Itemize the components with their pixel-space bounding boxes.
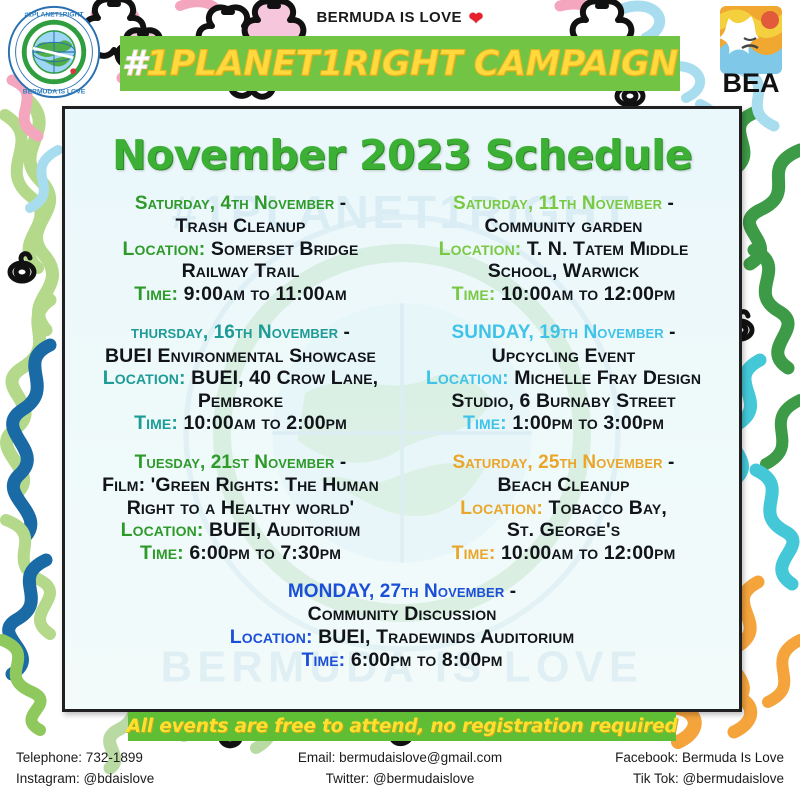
event-date: thursday, 16th November - (83, 322, 398, 344)
location-value: Michelle Fray Design (514, 367, 701, 389)
free-events-text: All events are free to attend, no regist… (127, 716, 678, 737)
event-title: BUEI Environmental Showcase (83, 345, 398, 368)
event-card: MONDAY, 27th November -Community Discuss… (79, 581, 725, 671)
event-date-dash: - (663, 452, 675, 473)
event-date-text: Saturday, 4th November (135, 193, 334, 214)
event-details: Saturday, 4th November -Trash CleanupLoc… (83, 193, 398, 305)
campaign-banner: #1PLANET1RIGHT CAMPAIGN (120, 36, 680, 91)
event-date-dash: - (335, 452, 347, 473)
event-location-cont: Studio, 6 Burnaby Street (406, 390, 721, 413)
tiktok-text[interactable]: Tik Tok: @bermudaislove (528, 769, 784, 790)
instagram-text: Instagram: @bdaislove (16, 769, 272, 790)
time-value: 10:00am to 12:00pm (501, 542, 675, 564)
event-card: Saturday, 4th November -Trash CleanupLoc… (79, 193, 402, 305)
email-text[interactable]: Email: bermudaislove@gmail.com (272, 748, 528, 769)
footer-col-left: Telephone: 732-1899 Instagram: @bdaislov… (0, 748, 272, 800)
event-location: Location: BUEI, Tradewinds Auditorium (83, 626, 721, 649)
campaign-title: #1PLANET1RIGHT CAMPAIGN (122, 44, 678, 84)
event-title: Community Discussion (83, 603, 721, 626)
location-label: Location: (103, 367, 191, 389)
event-date-text: SUNDAY, 19th November (451, 322, 663, 343)
location-value: BUEI, Tradewinds Auditorium (318, 626, 574, 648)
schedule-panel: #1PLANET1RIGHT BERMUDA IS LOVE November … (62, 106, 742, 712)
footer-col-right: Facebook: Bermuda Is Love Tik Tok: @berm… (528, 748, 800, 800)
event-date-dash: - (504, 581, 516, 602)
event-date-dash: - (334, 193, 346, 214)
time-label: Time: (134, 283, 178, 305)
time-label: Time: (452, 542, 496, 564)
event-date-dash: - (662, 193, 674, 214)
event-card: thursday, 16th November -BUEI Environmen… (79, 322, 402, 434)
event-details: MONDAY, 27th November -Community Discuss… (83, 581, 721, 671)
event-location: Location: Somerset Bridge (83, 238, 398, 261)
time-value: 6:00pm to 8:00pm (351, 649, 503, 671)
event-details: Saturday, 25th November -Beach CleanupLo… (406, 452, 721, 564)
free-events-banner: All events are free to attend, no regist… (128, 712, 676, 741)
event-time: Time: 10:00am to 12:00pm (406, 283, 721, 306)
event-time: Time: 6:00pm to 7:30pm (83, 542, 398, 565)
heart-icon: ❤ (469, 10, 484, 27)
location-value: T. N. Tatem Middle (527, 238, 689, 260)
time-label: Time: (301, 649, 345, 671)
event-location: Location: Michelle Fray Design (406, 367, 721, 390)
event-card: SUNDAY, 19th November -Upcycling EventLo… (402, 322, 725, 434)
location-label: Location: (230, 626, 318, 648)
hashtag-symbol: # (122, 44, 146, 84)
event-date-dash: - (664, 322, 676, 343)
event-date-text: MONDAY, 27th November (288, 581, 504, 602)
location-value: BUEI, Auditorium (209, 519, 360, 541)
event-date: SUNDAY, 19th November - (406, 322, 721, 344)
event-location: Location: Tobacco Bay, (406, 497, 721, 520)
bermuda-is-love-tagline: BERMUDA IS LOVE ❤ (0, 8, 800, 27)
event-details: SUNDAY, 19th November -Upcycling EventLo… (406, 322, 721, 434)
bea-logo: BEA (708, 2, 794, 102)
event-location-cont: Railway Trail (83, 260, 398, 283)
location-label: Location: (439, 238, 527, 260)
location-label: Location: (123, 238, 211, 260)
time-label: Time: (140, 542, 184, 564)
contact-footer: Telephone: 732-1899 Instagram: @bdaislov… (0, 748, 800, 800)
event-details: thursday, 16th November -BUEI Environmen… (83, 322, 398, 434)
events-grid: Saturday, 4th November -Trash CleanupLoc… (79, 193, 725, 688)
event-date: Saturday, 4th November - (83, 193, 398, 215)
time-value: 9:00am to 11:00am (184, 283, 347, 305)
event-location: Location: T. N. Tatem Middle (406, 238, 721, 261)
location-value: Tobacco Bay, (548, 497, 666, 519)
event-date-dash: - (338, 322, 350, 343)
location-label: Location: (460, 497, 548, 519)
footer-col-center: Email: bermudaislove@gmail.com Twitter: … (272, 748, 528, 800)
event-date-text: Tuesday, 21st November (135, 452, 335, 473)
event-title: Trash Cleanup (83, 215, 398, 238)
time-label: Time: (463, 412, 507, 434)
location-label: Location: (426, 367, 514, 389)
event-time: Time: 10:00am to 12:00pm (406, 542, 721, 565)
event-details: Tuesday, 21st November -Film: 'Green Rig… (83, 452, 398, 564)
page-title: November 2023 Schedule (79, 131, 725, 179)
location-label: Location: (121, 519, 209, 541)
event-time: Time: 10:00am to 2:00pm (83, 412, 398, 435)
event-details: Saturday, 11th November -Community garde… (406, 193, 721, 305)
twitter-text[interactable]: Twitter: @bermudaislove (272, 769, 528, 790)
event-title: Beach Cleanup (406, 474, 721, 497)
time-value: 6:00pm to 7:30pm (189, 542, 341, 564)
bermuda-is-love-globe-logo: #1PLANET1RIGHT BERMUDA IS LOVE (6, 4, 102, 100)
event-title: Film: 'Green Rights: The Human Right to … (83, 474, 398, 519)
location-value: BUEI, 40 Crow Lane, (191, 367, 378, 389)
time-value: 10:00am to 2:00pm (183, 412, 346, 434)
logo-bottom-text: BERMUDA IS LOVE (23, 88, 86, 95)
event-card: Saturday, 11th November -Community garde… (402, 193, 725, 305)
event-location: Location: BUEI, Auditorium (83, 519, 398, 542)
facebook-text[interactable]: Facebook: Bermuda Is Love (528, 748, 784, 769)
time-value: 10:00am to 12:00pm (501, 283, 675, 305)
event-location: Location: BUEI, 40 Crow Lane, (83, 367, 398, 390)
event-title: Upcycling Event (406, 345, 721, 368)
event-date-text: Saturday, 25th November (453, 452, 663, 473)
time-label: Time: (452, 283, 496, 305)
campaign-title-text: 1PLANET1RIGHT CAMPAIGN (146, 44, 678, 84)
event-card: Saturday, 25th November -Beach CleanupLo… (402, 452, 725, 564)
time-label: Time: (134, 412, 178, 434)
logo-top-text: #1PLANET1RIGHT (25, 11, 85, 18)
time-value: 1:00pm to 3:00pm (512, 412, 664, 434)
event-date-text: Saturday, 11th November (453, 193, 662, 214)
event-date: Tuesday, 21st November - (83, 452, 398, 474)
event-location-cont: Pembroke (83, 390, 398, 413)
event-date: Saturday, 25th November - (406, 452, 721, 474)
bea-logo-text: BEA (722, 68, 779, 98)
event-card: Tuesday, 21st November -Film: 'Green Rig… (79, 452, 402, 564)
location-value: Somerset Bridge (211, 238, 359, 260)
event-date: MONDAY, 27th November - (83, 581, 721, 603)
event-location-cont: St. George's (406, 519, 721, 542)
event-time: Time: 1:00pm to 3:00pm (406, 412, 721, 435)
telephone-text: Telephone: 732-1899 (16, 748, 272, 769)
event-location-cont: School, Warwick (406, 260, 721, 283)
event-time: Time: 6:00pm to 8:00pm (83, 649, 721, 672)
event-time: Time: 9:00am to 11:00am (83, 283, 398, 306)
event-date: Saturday, 11th November - (406, 193, 721, 215)
event-title: Community garden (406, 215, 721, 238)
event-date-text: thursday, 16th November (131, 322, 338, 343)
tagline-text: BERMUDA IS LOVE (316, 9, 461, 26)
